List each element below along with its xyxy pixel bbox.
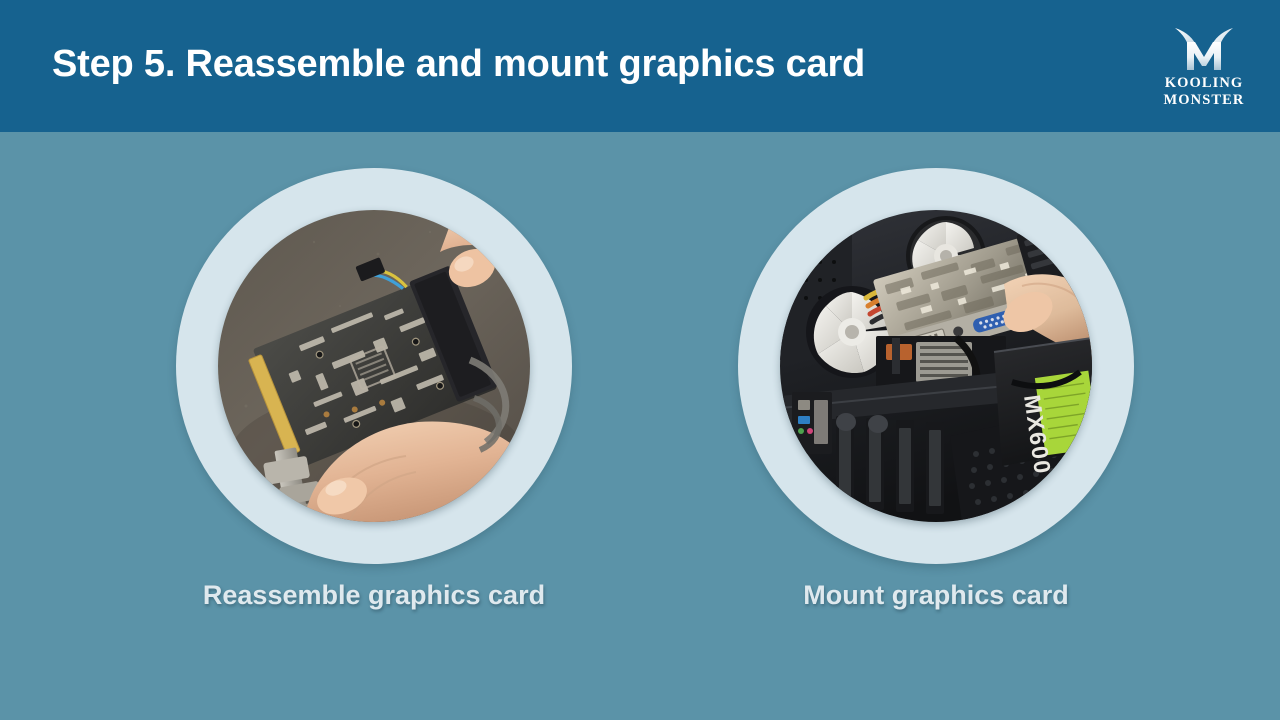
logo-line-1: KOOLING (1150, 75, 1258, 92)
photo-card-reassemble[interactable] (176, 168, 572, 564)
photo-reassemble-graphics-card (218, 210, 530, 522)
slide-root: Step 5. Reassemble and mount graphics ca… (0, 0, 1280, 720)
brand-logo: KOOLING MONSTER (1150, 26, 1258, 114)
monster-m-horns-icon (1173, 26, 1235, 72)
photo-card-mount[interactable]: MX600 (738, 168, 1134, 564)
logo-line-2: MONSTER (1150, 92, 1258, 109)
photo-artwork (218, 210, 530, 522)
photo-artwork: MX600 (780, 210, 1092, 522)
caption-mount-graphics-card: Mount graphics card (738, 574, 1134, 617)
logo-wordmark: KOOLING MONSTER (1150, 75, 1258, 109)
photo-mount-graphics-card: MX600 (780, 210, 1092, 522)
header-bar: Step 5. Reassemble and mount graphics ca… (0, 0, 1280, 132)
caption-reassemble-graphics-card: Reassemble graphics card (176, 574, 572, 617)
page-title: Step 5. Reassemble and mount graphics ca… (52, 42, 865, 88)
